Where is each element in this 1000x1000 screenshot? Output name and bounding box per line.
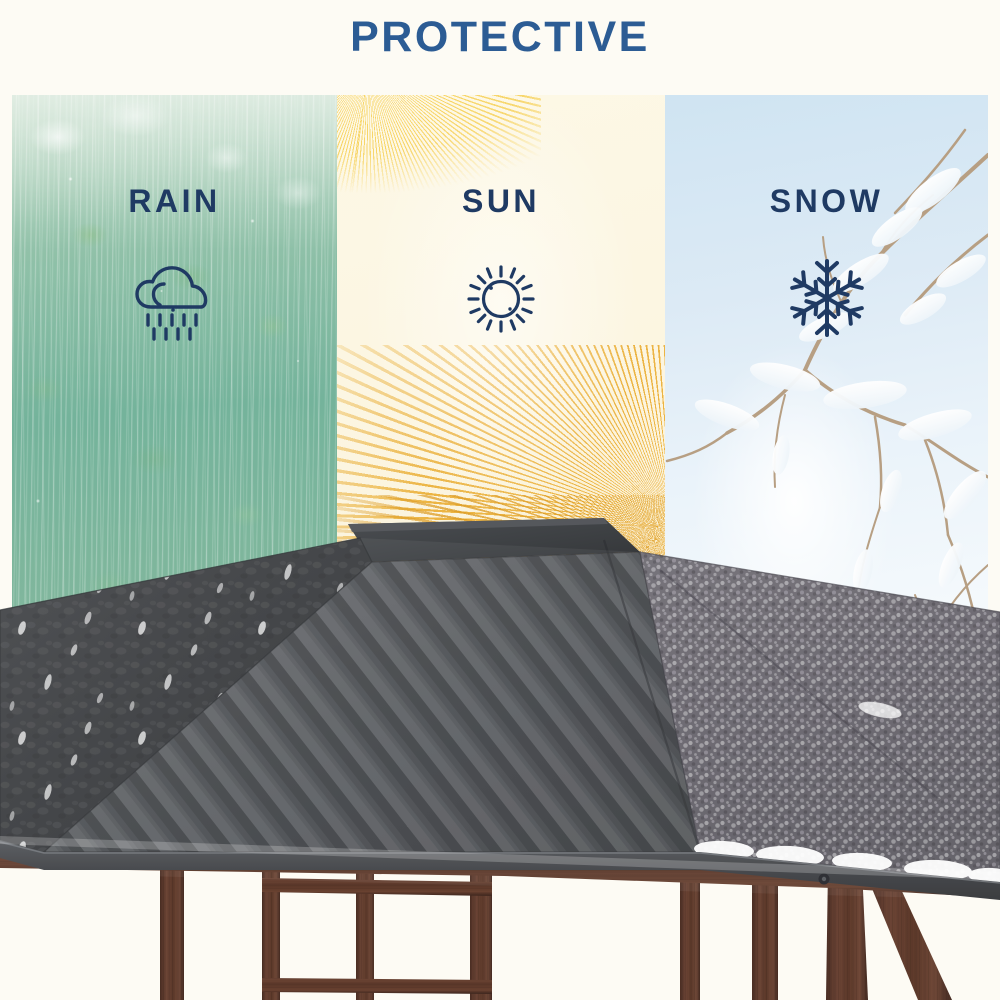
roof-overlay-veil [0, 0, 1000, 375]
roof-glass-sheen [0, 538, 1000, 900]
gazebo-product [0, 500, 1000, 1000]
product-feature-image: PROTECTIVE RAIN [0, 0, 1000, 1000]
